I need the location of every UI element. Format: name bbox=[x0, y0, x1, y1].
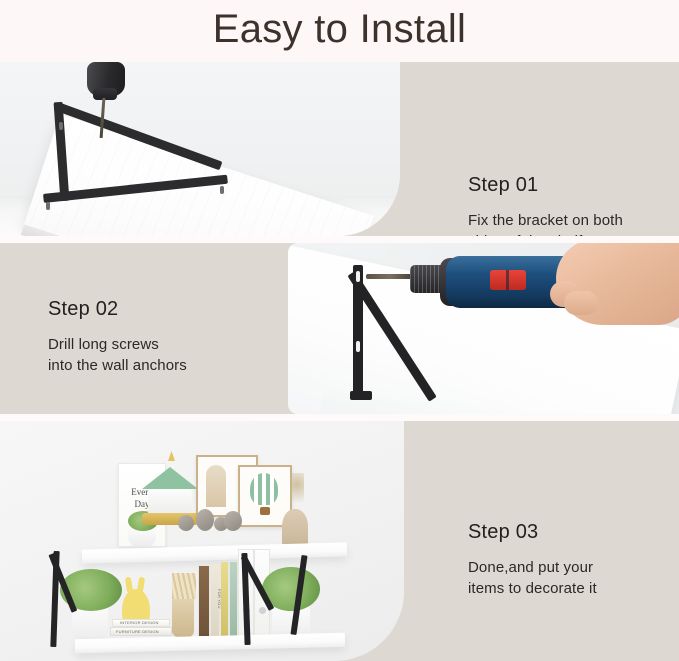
decor-carousel-canopy bbox=[142, 467, 198, 489]
decor-stone-ball bbox=[196, 509, 214, 531]
decor-book-green bbox=[229, 561, 238, 637]
page-title: Easy to Install bbox=[213, 9, 467, 53]
step-1-label: Step 01 bbox=[468, 174, 668, 197]
page-header: Easy to Install bbox=[0, 0, 679, 62]
binder-ring-hole bbox=[259, 607, 266, 614]
step-2-description-line-2: into the wall anchors bbox=[48, 355, 278, 376]
step-1-text-block: Step 01 Fix the bracket on both sides of… bbox=[468, 174, 668, 236]
bracket-screw-hole bbox=[220, 186, 224, 194]
book-stack-label-2: FURNITURE DESIGN bbox=[116, 629, 159, 634]
panel-divider-1 bbox=[0, 236, 679, 243]
decor-carousel-body bbox=[148, 489, 192, 515]
decor-frame-art-shape bbox=[206, 465, 226, 507]
bracket-screw-slot bbox=[356, 271, 360, 282]
step-3-description-line-2: items to decorate it bbox=[468, 578, 668, 599]
decor-stone-ball bbox=[224, 511, 242, 531]
step-1-description-line-1: Fix the bracket on both bbox=[468, 210, 668, 231]
step-2-description-line-1: Drill long screws bbox=[48, 334, 278, 355]
step-panel-3: Every Day bbox=[0, 421, 679, 661]
install-guide-page: Easy to Install Step 01 Fix the bracket bbox=[0, 0, 679, 661]
decor-pencils bbox=[172, 573, 196, 599]
step-1-description: Fix the bracket on both sides of the she… bbox=[468, 210, 668, 236]
bracket-screw-hole bbox=[46, 202, 50, 210]
step-2-photo bbox=[288, 243, 679, 414]
step-3-text-block: Step 03 Done,and put your items to decor… bbox=[468, 521, 668, 600]
step-3-label: Step 03 bbox=[468, 521, 668, 544]
book-spine-label-1: FOR YOU bbox=[217, 589, 222, 609]
decor-hot-air-balloon bbox=[250, 473, 278, 505]
step-panel-2: Step 02 Drill long screws into the wall … bbox=[0, 243, 679, 414]
decor-dried-stems bbox=[290, 473, 304, 511]
decor-pencil-cup bbox=[172, 593, 194, 637]
panel-divider-2 bbox=[0, 414, 679, 421]
wall-bracket-base-arm bbox=[350, 391, 372, 400]
step-panel-1: Step 01 Fix the bracket on both sides of… bbox=[0, 62, 679, 236]
step-3-photo: Every Day bbox=[0, 421, 404, 661]
decor-vase bbox=[282, 509, 308, 547]
step-2-text-block: Step 02 Drill long screws into the wall … bbox=[48, 298, 278, 377]
step-3-description: Done,and put your items to decorate it bbox=[468, 557, 668, 600]
decor-book-brown bbox=[198, 565, 210, 637]
bracket-screw-hole bbox=[59, 122, 63, 130]
decor-stone-ball bbox=[178, 515, 194, 531]
step-3-description-line-1: Done,and put your bbox=[468, 557, 668, 578]
finger bbox=[564, 291, 598, 315]
step-2-description: Drill long screws into the wall anchors bbox=[48, 334, 278, 377]
drill-switch-divider bbox=[506, 270, 509, 290]
bracket-screw-slot bbox=[356, 341, 360, 352]
step-2-label: Step 02 bbox=[48, 298, 278, 321]
decor-balloon-basket bbox=[260, 507, 270, 515]
drill-bit bbox=[366, 274, 414, 279]
book-stack-label-1: INTERIOR DESIGN bbox=[120, 620, 159, 625]
step-1-photo bbox=[0, 62, 400, 236]
